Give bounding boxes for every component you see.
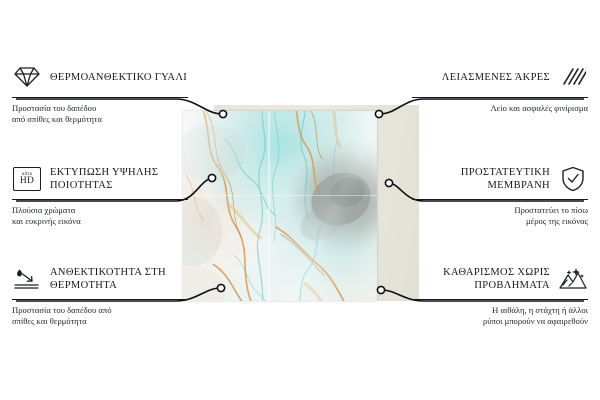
feature-header: ΛΕΙΑΣΜΕΝΕΣ ΆΚΡΕΣ	[412, 62, 588, 92]
divider	[12, 199, 188, 200]
heat-resistance-icon	[12, 265, 42, 293]
feature-title: ΘΕΡΜΟΑΝΘΕΚΤΙΚΟ ΓΥΑΛΙ	[50, 71, 188, 84]
feature-high-quality-print: ultra HD ΕΚΤΥΠΩΣΗ ΥΨΗΛΗΣ ΠΟΙΟΤΗΤΑΣ Πλούσ…	[12, 164, 188, 226]
divider	[412, 97, 588, 98]
feature-header: ΑΝΘΕΚΤΙΚΟΤΗΤΑ ΣΤΗ ΘΕΡΜΟΤΗΤΑ	[12, 264, 188, 294]
feature-header: ΘΕΡΜΟΑΝΘΕΚΤΙΚΟ ΓΥΑΛΙ	[12, 62, 188, 92]
feature-easy-cleaning: ΚΑΘΑΡΙΣΜΟΣ ΧΩΡΙΣ ΠΡΟΒΛΗΜΑΤΑ Η αιθάλη, η …	[412, 264, 588, 326]
ultra-hd-icon: ultra HD	[12, 165, 42, 193]
feature-header: ultra HD ΕΚΤΥΠΩΣΗ ΥΨΗΛΗΣ ΠΟΙΟΤΗΤΑΣ	[12, 164, 188, 194]
feature-protective-membrane: ΠΡΟΣΤΑΤΕΥΤΙΚΗ ΜΕΜΒΡΑΝΗ Προστατεύει το πί…	[412, 164, 588, 226]
diamond-icon	[12, 63, 42, 91]
polished-edges-icon	[558, 63, 588, 91]
feature-description: Προστατεύει το πίσω μέρος της εικόνας	[412, 205, 588, 226]
easy-clean-sparkle-icon	[558, 265, 588, 293]
feature-polished-edges: ΛΕΙΑΣΜΕΝΕΣ ΆΚΡΕΣ Λείο και ασφαλές φινίρι…	[412, 62, 588, 114]
feature-description: Προστασία του δαπέδου από σπίθες και θερ…	[12, 305, 188, 326]
feature-description: Η αιθάλη, η στάχτη ή άλλοι ρύποι μπορούν…	[412, 305, 588, 326]
divider	[12, 97, 188, 98]
feature-title: ΑΝΘΕΚΤΙΚΟΤΗΤΑ ΣΤΗ ΘΕΡΜΟΤΗΤΑ	[50, 266, 188, 292]
feature-title: ΛΕΙΑΣΜΕΝΕΣ ΆΚΡΕΣ	[412, 71, 550, 84]
infographic-canvas: ΘΕΡΜΟΑΝΘΕΚΤΙΚΟ ΓΥΑΛΙ Προστασία του δαπέδ…	[0, 0, 600, 400]
feature-heat-resistant-glass: ΘΕΡΜΟΑΝΘΕΚΤΙΚΟ ΓΥΑΛΙ Προστασία του δαπέδ…	[12, 62, 188, 124]
divider	[412, 199, 588, 200]
feature-title: ΕΚΤΥΠΩΣΗ ΥΨΗΛΗΣ ΠΟΙΟΤΗΤΑΣ	[50, 166, 188, 192]
feature-description: Προστασία του δαπέδου από σπίθες και θερ…	[12, 103, 188, 124]
feature-description: Λείο και ασφαλές φινίρισμα	[412, 103, 588, 114]
feature-title: ΠΡΟΣΤΑΤΕΥΤΙΚΗ ΜΕΜΒΡΑΝΗ	[412, 166, 550, 192]
divider	[12, 299, 188, 300]
feature-header: ΠΡΟΣΤΑΤΕΥΤΙΚΗ ΜΕΜΒΡΑΝΗ	[412, 164, 588, 194]
feature-header: ΚΑΘΑΡΙΣΜΟΣ ΧΩΡΙΣ ΠΡΟΒΛΗΜΑΤΑ	[412, 264, 588, 294]
ultra-hd-icon-bottom-label: HD	[20, 177, 34, 187]
feature-description: Πλούσια χρώματα και ευκρινής εικόνα	[12, 205, 188, 226]
feature-heat-resistance: ΑΝΘΕΚΤΙΚΟΤΗΤΑ ΣΤΗ ΘΕΡΜΟΤΗΤΑ Προστασία το…	[12, 264, 188, 326]
shield-check-icon	[558, 165, 588, 193]
feature-title: ΚΑΘΑΡΙΣΜΟΣ ΧΩΡΙΣ ΠΡΟΒΛΗΜΑΤΑ	[412, 266, 550, 292]
divider	[412, 299, 588, 300]
